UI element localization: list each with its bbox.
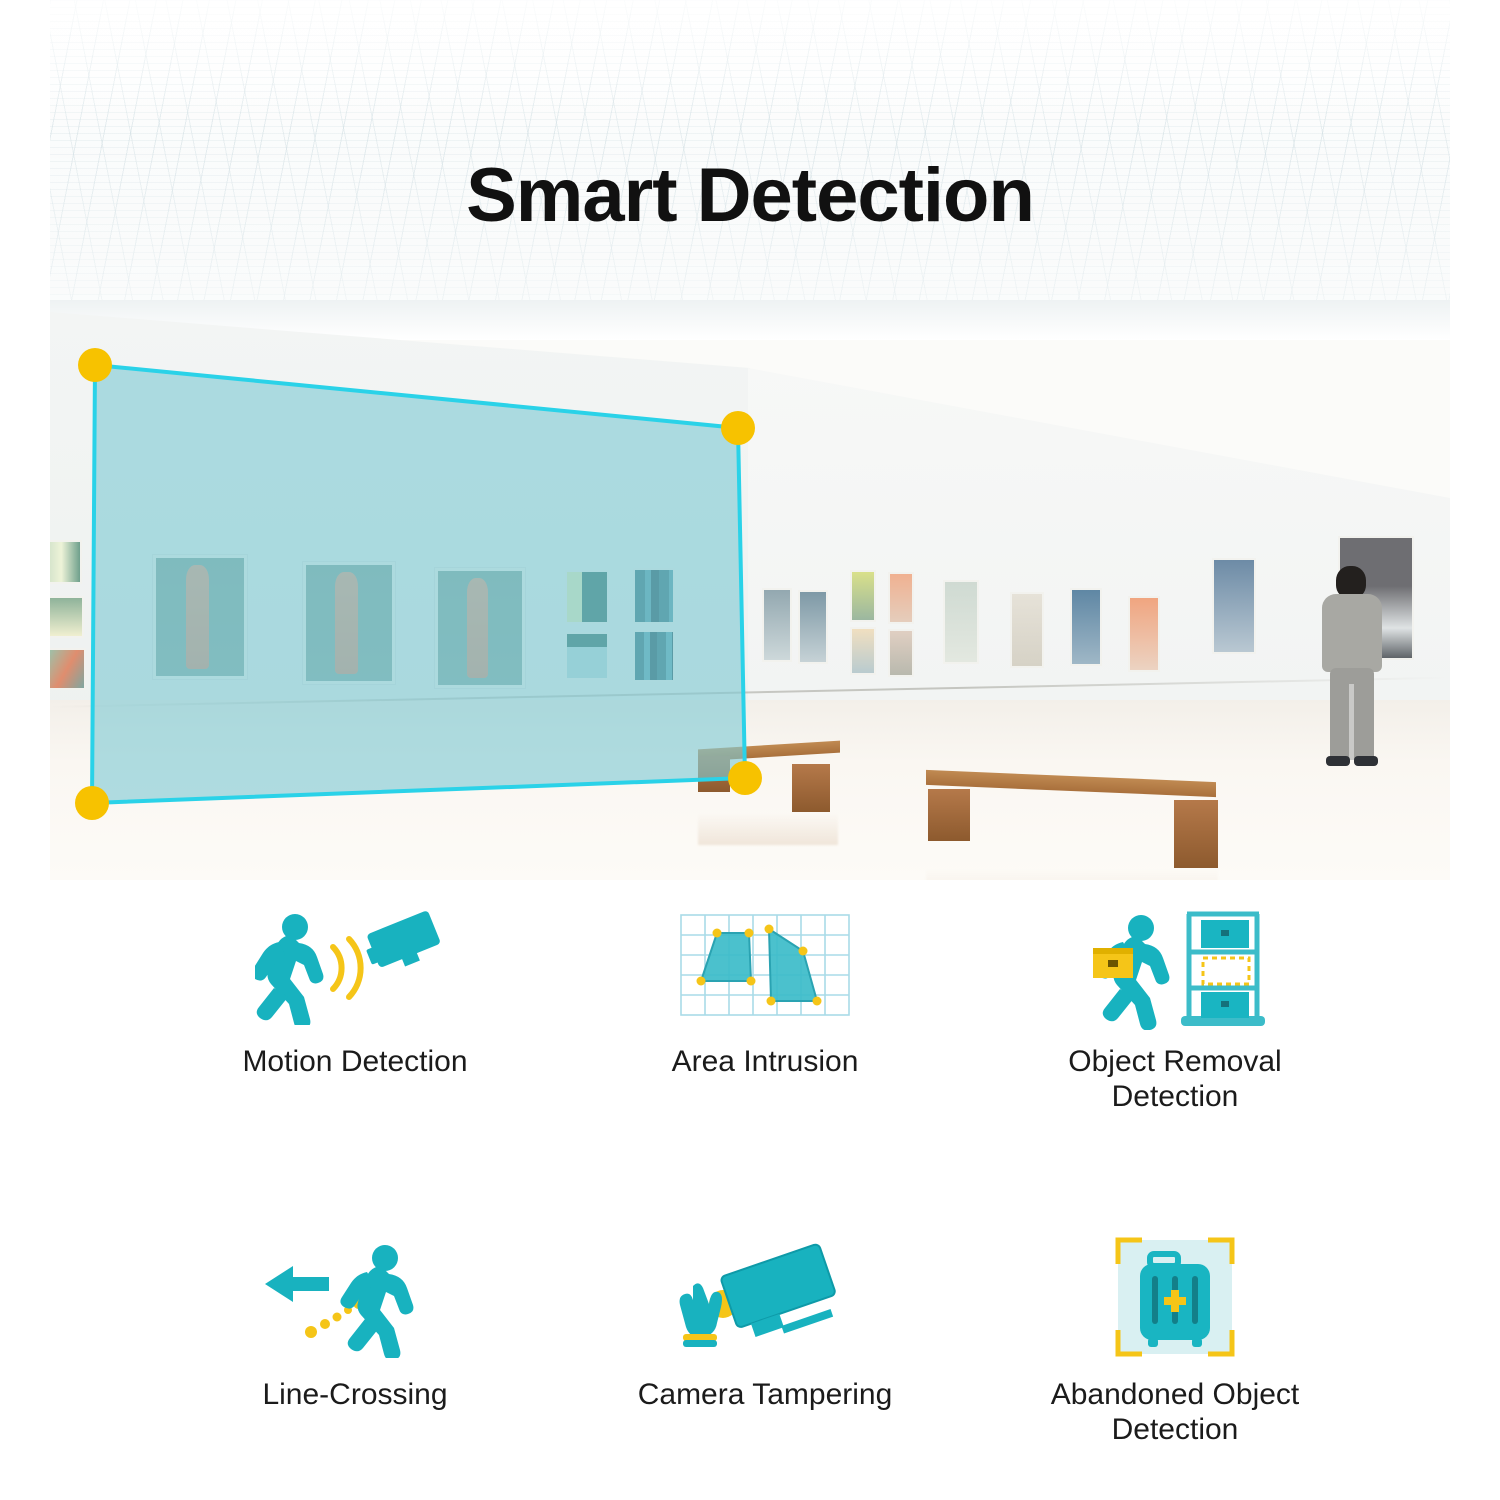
arrow-left-glyph (265, 1266, 329, 1302)
feature-row-2: Line-Crossing (150, 1233, 1380, 1448)
feature-camera-tampering[interactable]: Camera Tampering (560, 1233, 970, 1448)
signal-waves-glyph (333, 939, 361, 997)
gallery-scene-photo (50, 0, 1450, 880)
object-removal-icon (1075, 900, 1275, 1030)
detection-zone-polygon[interactable] (92, 365, 745, 803)
removed-object-outline (1203, 958, 1249, 984)
smart-detection-page: Smart Detection (0, 0, 1500, 1500)
zone-polygon-2 (769, 929, 817, 1001)
feature-abandoned-object[interactable]: Abandoned Object Detection (970, 1233, 1380, 1448)
feature-grid: Motion Detection (150, 900, 1380, 1448)
feature-area-intrusion[interactable]: Area Intrusion (560, 900, 970, 1115)
suitcase-glyph (1140, 1254, 1210, 1347)
feature-label: Camera Tampering (638, 1377, 893, 1412)
feature-label: Motion Detection (242, 1044, 467, 1079)
camera-glyph (361, 910, 444, 978)
running-person-glyph (340, 1245, 413, 1358)
camera-tampering-icon (665, 1233, 865, 1363)
hand-cuff-glyph (683, 1334, 717, 1347)
feature-motion-detection[interactable]: Motion Detection (150, 900, 560, 1115)
running-person-glyph (255, 914, 323, 1025)
feature-object-removal[interactable]: Object Removal Detection (970, 900, 1380, 1115)
motion-detection-icon (255, 900, 455, 1030)
feature-line-crossing[interactable]: Line-Crossing (150, 1233, 560, 1448)
zone-corner-handle-top-left[interactable] (78, 348, 112, 382)
feature-label: Abandoned Object Detection (1051, 1377, 1300, 1448)
hand-glyph (680, 1283, 722, 1337)
line-crossing-icon (255, 1233, 455, 1363)
camera-glyph (720, 1243, 842, 1347)
page-title: Smart Detection (0, 152, 1500, 239)
carried-box-glyph (1093, 948, 1133, 978)
zone-corner-handle-bottom-left[interactable] (75, 786, 109, 820)
zone-corner-handle-top-right[interactable] (721, 411, 755, 445)
feature-label: Object Removal Detection (1068, 1044, 1281, 1115)
feature-label: Line-Crossing (262, 1377, 447, 1412)
feature-label: Area Intrusion (672, 1044, 859, 1079)
zone-polygon-1 (701, 933, 751, 981)
feature-row-1: Motion Detection (150, 900, 1380, 1115)
abandoned-object-icon (1100, 1233, 1250, 1363)
detection-zone-overlay[interactable] (50, 0, 1450, 880)
zone-corner-handle-bottom-right[interactable] (728, 761, 762, 795)
area-intrusion-icon (675, 900, 855, 1030)
